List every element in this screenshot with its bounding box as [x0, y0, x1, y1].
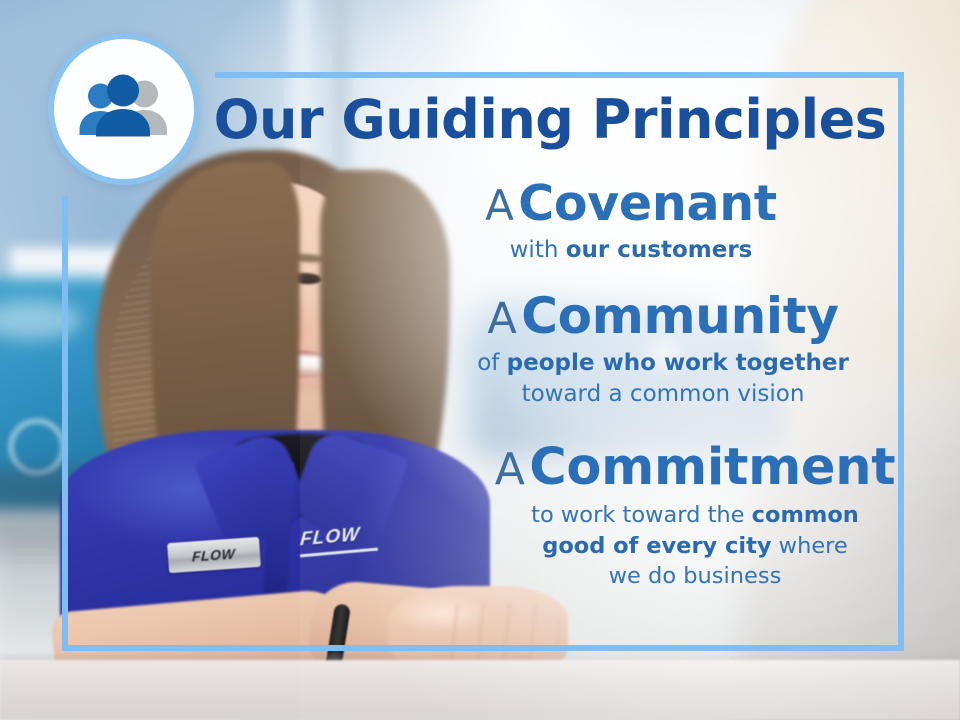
principle-commitment: A Commitment to work toward the commongo… [490, 441, 900, 590]
principle-community-title: A Community [426, 290, 900, 343]
principle-article: A [487, 294, 516, 344]
emphasis-text: good of every city [542, 533, 771, 559]
principle-community-body: of people who work togethertoward a comm… [426, 348, 900, 410]
page-title: Our Guiding Principles [210, 93, 890, 147]
emphasis-text: our customers [566, 237, 753, 263]
people-group-icon [72, 72, 176, 146]
name-badge: FLOW [167, 537, 261, 573]
guiding-principles-poster: FLOW FLOW [0, 0, 960, 720]
emphasis-text: common [752, 502, 859, 528]
body-text: with [510, 237, 566, 263]
principle-covenant-body: with our customers [362, 235, 900, 266]
principle-article: A [495, 444, 525, 495]
principle-keyword: Covenant [518, 175, 777, 232]
principle-commitment-title: A Commitment [490, 441, 900, 495]
vehicle-emblem [8, 418, 66, 476]
body-text: toward a common vision [522, 381, 805, 407]
desk-surface [0, 660, 960, 720]
emphasis-text: people who work together [507, 350, 849, 376]
body-text: to work toward the [531, 502, 752, 528]
principle-keyword: Community [521, 287, 838, 345]
people-group-badge [48, 33, 200, 185]
name-badge-label: FLOW [192, 545, 236, 564]
principles-list: A Covenant with our customers A Communit… [300, 178, 900, 601]
principle-community: A Community of people who work togethert… [426, 290, 900, 410]
principle-article: A [485, 181, 514, 230]
body-text: of [477, 350, 506, 376]
principle-commitment-body: to work toward the commongood of every c… [490, 500, 900, 590]
body-text: where [772, 533, 848, 559]
principle-covenant: A Covenant with our customers [362, 178, 900, 266]
frame-border-top [215, 72, 904, 78]
principle-keyword: Commitment [529, 438, 895, 497]
woman-fingers [430, 604, 560, 664]
frame-border-bottom [62, 645, 904, 651]
principle-covenant-title: A Covenant [362, 178, 900, 230]
body-text: we do business [609, 563, 782, 589]
frame-border-left [62, 196, 68, 651]
